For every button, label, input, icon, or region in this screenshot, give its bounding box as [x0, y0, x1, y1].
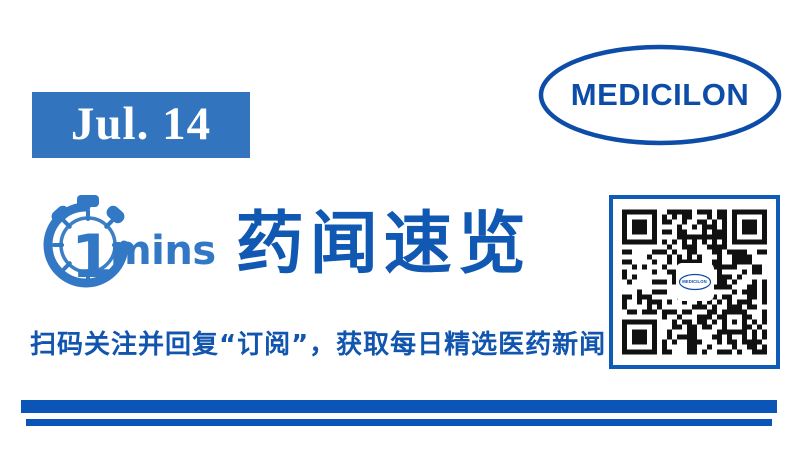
date-badge-label: Jul. 14 [71, 101, 211, 148]
footer-rule-thin [26, 419, 772, 426]
qr-code-block[interactable]: MEDICILON [609, 195, 780, 369]
brand-logo: MEDICILON [538, 44, 782, 146]
svg-text:1: 1 [71, 222, 113, 292]
footer-rule-thick [21, 400, 777, 413]
newsletter-banner: Jul. 14 MEDICILON [0, 0, 800, 468]
headline-title: 药闻速览 [236, 211, 532, 279]
minutes-unit-label: mins [110, 231, 216, 271]
qr-center-logo-label: MEDICILON [682, 280, 706, 284]
qr-code-image[interactable]: MEDICILON [622, 208, 767, 356]
brand-logo-label: MEDICILON [538, 44, 782, 146]
subtitle-text: 扫码关注并回复“订阅”，获取每日精选医药新闻 [30, 324, 606, 361]
qr-center-logo: MEDICILON [676, 263, 714, 301]
headline-row: 1 mins 药闻速览 [36, 190, 532, 300]
date-badge: Jul. 14 [32, 92, 250, 158]
